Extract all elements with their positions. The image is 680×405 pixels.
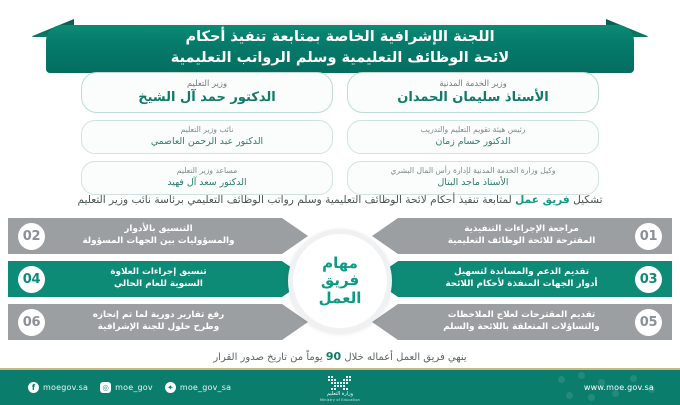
member-card: رئيس هيئة تقويم التعليم والتدريب الدكتور…: [347, 120, 599, 154]
ministry-logo: وزارة التعليم Ministry of Education: [320, 376, 360, 402]
note-text-after: يوماً من تاريخ صدور القرار: [213, 352, 326, 363]
task-number-badge: 03: [635, 266, 662, 293]
header-title-line-2: لائحة الوظائف التعليمية وسلم الرواتب الت…: [171, 48, 509, 69]
member-card: وكيل وزارة الخدمة المدنية لإدارة رأس الم…: [347, 161, 599, 195]
task-text-line-2: المقترحة للائحة الوظائف التعليمية: [414, 236, 629, 248]
social-link-twitter[interactable]: ✦ moe_gov_sa: [165, 382, 231, 393]
facebook-icon: f: [28, 382, 39, 393]
task-text: مراجعة الإجراءات التنفيذية المقترحة للائ…: [408, 224, 635, 247]
task-row-01[interactable]: 01 مراجعة الإجراءات التنفيذية المقترحة ل…: [372, 218, 672, 254]
task-text: تقديم المقترحات لعلاج الملاحظات والتساؤل…: [408, 310, 635, 333]
task-text-line-2: والتساؤلات المتعلقة باللائحة والسلم: [414, 322, 629, 334]
ministry-logo-mark: [328, 376, 351, 390]
task-text: تنسيق إجراءات العلاوة السنوية للعام الحا…: [45, 267, 272, 290]
social-handle: moe_gov: [115, 383, 153, 392]
banner-body: اللجنة الإشرافية الخاصة بمتابعة تنفيذ أح…: [46, 25, 634, 73]
intro-text-after: لمتابعة تنفيذ أحكام لائحة الوظائف التعلي…: [77, 194, 515, 206]
center-hub: مهام فريق العمل: [288, 229, 392, 333]
twitter-icon: ✦: [165, 382, 176, 393]
member-role: مساعد وزير التعليم: [90, 166, 324, 176]
hub-line-1: مهام: [322, 255, 358, 272]
task-number-badge: 04: [18, 266, 45, 293]
task-number-badge: 02: [18, 223, 45, 250]
footer-bar: f moegov.sa ◎ moe_gov ✦ moe_gov_sa وزارة…: [0, 370, 680, 405]
infographic-page: اللجنة الإشرافية الخاصة بمتابعة تنفيذ أح…: [0, 0, 680, 405]
task-text-line-1: رفع تقارير دورية لما تم إنجازه: [51, 310, 266, 322]
task-text-line-1: التنسيق بالأدوار: [51, 224, 266, 236]
header-title-line-1: اللجنة الإشرافية الخاصة بمتابعة تنفيذ أح…: [185, 27, 494, 48]
member-name: الدكتور عبد الرحمن العاصمي: [90, 136, 324, 148]
tasks-column-right: 01 مراجعة الإجراءات التنفيذية المقترحة ل…: [372, 218, 672, 340]
member-role: وزير الخدمة المدنية: [356, 78, 590, 89]
intro-highlight: فريق عمل: [515, 194, 570, 206]
task-number-badge: 01: [635, 223, 662, 250]
task-text-line-1: تقديم المقترحات لعلاج الملاحظات: [414, 310, 629, 322]
member-card: وزير الخدمة المدنية الأستاذ سليمان الحمد…: [347, 72, 599, 113]
ministry-website-url: www.moe.gov.sa: [584, 383, 654, 392]
intro-sentence: تشكيل فريق عمل لمتابعة تنفيذ أحكام لائحة…: [0, 193, 680, 208]
members-column-right: وزير التعليم الدكتور حمد آل الشيخ نائب و…: [81, 72, 333, 184]
member-role: وزير التعليم: [90, 78, 324, 89]
member-name: الأستاذ سليمان الحمدان: [356, 90, 590, 107]
task-row-05[interactable]: 05 تقديم المقترحات لعلاج الملاحظات والتس…: [372, 304, 672, 340]
task-text-line-1: تنسيق إجراءات العلاوة: [51, 267, 266, 279]
ministry-logo-arabic: وزارة التعليم: [327, 391, 353, 397]
member-card: مساعد وزير التعليم الدكتور سعد آل فهيد: [81, 161, 333, 195]
social-handle: moegov.sa: [43, 383, 88, 392]
task-text-line-2: والمسؤوليات بين الجهات المسؤولة: [51, 236, 266, 248]
member-name: الدكتور سعد آل فهيد: [90, 177, 324, 189]
task-row-03[interactable]: 03 تقديم الدعم والمساندة لتسهيل أدوار ال…: [372, 261, 672, 297]
member-name: الأستاذ ماجد البتال: [356, 177, 590, 189]
task-text-line-2: السنوية للعام الحالي: [51, 279, 266, 291]
deadline-note: ينهي فريق العمل أعماله خلال 90 يوماً من …: [0, 350, 680, 363]
ministry-logo-english: Ministry of Education: [320, 398, 360, 402]
note-days: 90: [326, 350, 341, 363]
social-handle: moe_gov_sa: [180, 383, 231, 392]
task-text: تقديم الدعم والمساندة لتسهيل أدوار الجها…: [408, 267, 635, 290]
task-row-02[interactable]: 02 التنسيق بالأدوار والمسؤوليات بين الجه…: [8, 218, 308, 254]
member-card: نائب وزير التعليم الدكتور عبد الرحمن الع…: [81, 120, 333, 154]
members-column-left: وزير الخدمة المدنية الأستاذ سليمان الحمد…: [347, 72, 599, 184]
task-text: رفع تقارير دورية لما تم إنجازه وطرح حلول…: [45, 310, 272, 333]
member-name: الدكتور حسام زمان: [356, 136, 590, 148]
member-role: وكيل وزارة الخدمة المدنية لإدارة رأس الم…: [356, 166, 590, 176]
header-banner: اللجنة الإشرافية الخاصة بمتابعة تنفيذ أح…: [0, 8, 680, 70]
intro-text-before: تشكيل: [570, 194, 603, 206]
member-role: رئيس هيئة تقويم التعليم والتدريب: [356, 125, 590, 135]
social-link-facebook[interactable]: f moegov.sa: [28, 382, 88, 393]
task-text-line-1: تقديم الدعم والمساندة لتسهيل: [414, 267, 629, 279]
task-row-04[interactable]: 04 تنسيق إجراءات العلاوة السنوية للعام ا…: [8, 261, 308, 297]
member-name: الدكتور حمد آل الشيخ: [90, 90, 324, 107]
committee-members: وزير التعليم الدكتور حمد آل الشيخ نائب و…: [0, 72, 680, 184]
member-role: نائب وزير التعليم: [90, 125, 324, 135]
note-text-before: ينهي فريق العمل أعماله خلال: [341, 352, 466, 363]
task-text-line-1: مراجعة الإجراءات التنفيذية: [414, 224, 629, 236]
task-text-line-2: وطرح حلول للجنة الإشرافية: [51, 322, 266, 334]
member-card: وزير التعليم الدكتور حمد آل الشيخ: [81, 72, 333, 113]
task-number-badge: 06: [18, 309, 45, 336]
task-row-06[interactable]: 06 رفع تقارير دورية لما تم إنجازه وطرح ح…: [8, 304, 308, 340]
task-text: التنسيق بالأدوار والمسؤوليات بين الجهات …: [45, 224, 272, 247]
social-link-instagram[interactable]: ◎ moe_gov: [100, 382, 153, 393]
task-text-line-2: أدوار الجهات المنفذة لأحكام اللائحة: [414, 279, 629, 291]
tasks-column-left: 02 التنسيق بالأدوار والمسؤوليات بين الجه…: [8, 218, 308, 340]
hub-line-2: فريق: [321, 272, 359, 289]
task-number-badge: 05: [635, 309, 662, 336]
instagram-icon: ◎: [100, 382, 111, 393]
hub-line-3: العمل: [319, 290, 362, 307]
social-links: f moegov.sa ◎ moe_gov ✦ moe_gov_sa: [28, 382, 231, 393]
